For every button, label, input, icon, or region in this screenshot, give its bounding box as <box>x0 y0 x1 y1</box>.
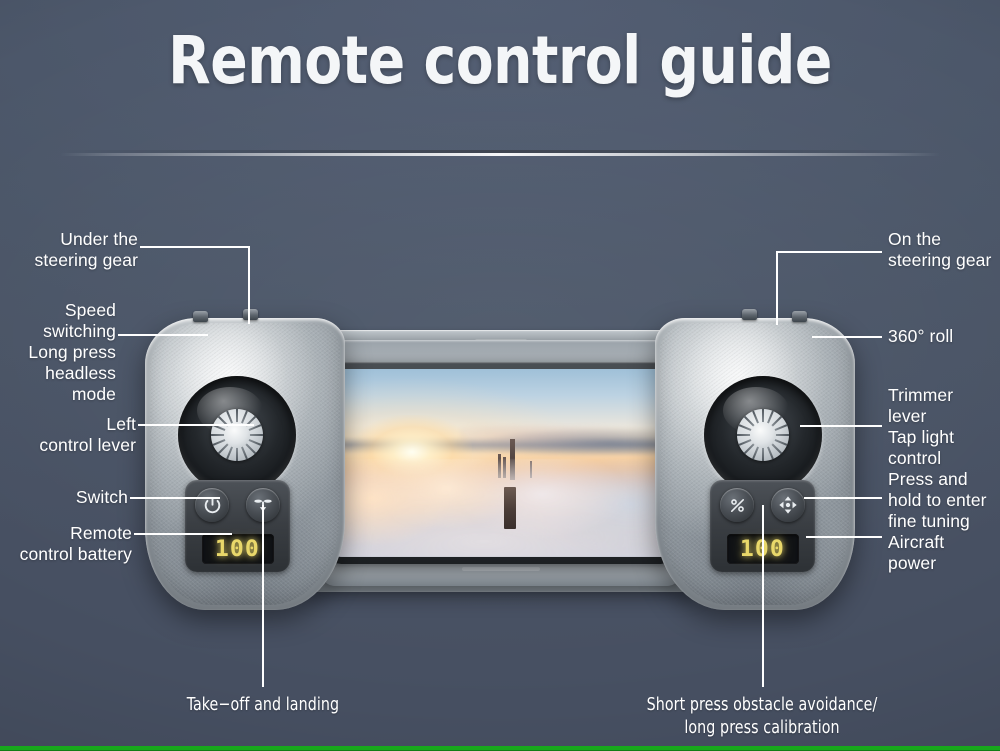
bottom-accent-strip <box>0 746 1000 751</box>
leader-line-take-off-landing <box>262 505 264 687</box>
cradle-bottom-vent <box>462 567 540 571</box>
trim-fine-tuning-button[interactable] <box>771 488 805 522</box>
remote-controller: 100 <box>145 318 855 613</box>
right-stick-cap[interactable] <box>737 409 789 461</box>
screenshot-root: Remote control guide <box>0 0 1000 751</box>
label-speed-switching: Speed switching Long press headless mode <box>0 300 116 405</box>
label-switch: Switch <box>0 487 128 508</box>
leader-line-aircraft-power <box>806 536 882 538</box>
leader-line-fine-tuning <box>804 497 882 499</box>
leader-line-remote-battery <box>134 533 232 535</box>
leader-line-on-steering-gear-vertical <box>776 251 778 325</box>
label-left-control-lever: Left control lever <box>0 414 136 456</box>
left-button-panel: 100 <box>185 480 290 572</box>
label-under-steering-gear: Under the steering gear <box>0 229 138 271</box>
right-control-lever[interactable] <box>704 376 822 494</box>
label-on-steering-gear: On the steering gear <box>888 229 1000 271</box>
leader-line-switch <box>130 497 220 499</box>
label-trimmer-lever: Trimmer lever Tap light control Press an… <box>888 385 1000 574</box>
label-remote-control-battery: Remote control battery <box>0 523 132 565</box>
shoulder-button-360-roll[interactable] <box>792 311 807 322</box>
obstacle-avoidance-icon <box>728 496 747 515</box>
leader-line-left-control-lever <box>138 424 254 426</box>
skyscraper-foreground <box>504 487 516 528</box>
shoulder-button-speed-switch[interactable] <box>193 311 208 322</box>
shoulder-button-on-steering-gear[interactable] <box>742 309 757 320</box>
four-way-arrows-icon <box>778 495 798 515</box>
mounted-phone <box>323 362 679 564</box>
sea-of-clouds <box>330 459 672 557</box>
label-obstacle-avoidance: Short press obstacle avoidance/ long pre… <box>600 693 924 739</box>
shoulder-button-under-steering-gear[interactable] <box>243 309 258 320</box>
label-take-off-landing: Take−off and landing <box>148 693 379 716</box>
divider-line <box>60 153 940 156</box>
cloud-band-secondary <box>460 425 672 455</box>
left-stick-cap[interactable] <box>211 409 263 461</box>
obstacle-avoidance-button[interactable] <box>720 488 754 522</box>
right-stick-center <box>750 422 776 448</box>
page-title: Remote control guide <box>35 26 965 95</box>
leader-line-under-steering-gear <box>140 246 250 248</box>
power-button[interactable] <box>195 488 229 522</box>
leader-line-trimmer-lever <box>800 425 882 427</box>
leader-line-obstacle-avoidance <box>762 505 764 687</box>
leader-line-under-steering-gear-vertical <box>248 246 250 324</box>
leader-line-360-roll <box>812 336 882 338</box>
leader-line-speed-switching <box>118 334 208 336</box>
phone-screen[interactable] <box>330 369 672 557</box>
leader-line-on-steering-gear <box>776 251 882 253</box>
remote-battery-value: 100 <box>215 537 260 562</box>
left-control-lever[interactable] <box>178 376 296 494</box>
label-360-roll: 360° roll <box>888 326 1000 347</box>
